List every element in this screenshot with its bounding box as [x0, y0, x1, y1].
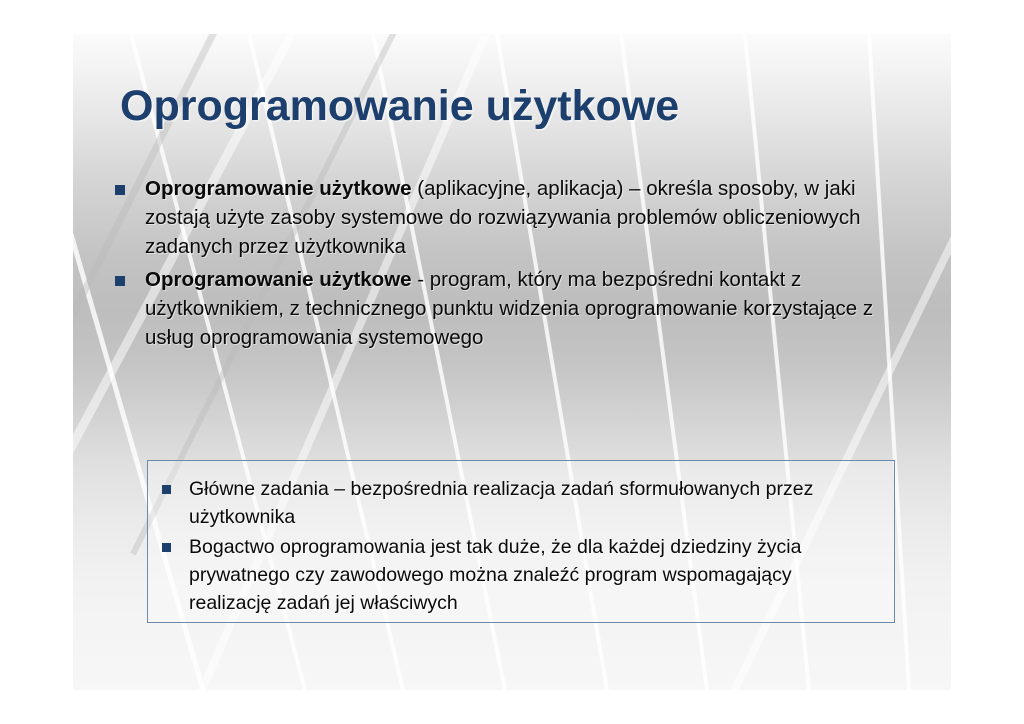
presentation-slide: Oprogramowanie użytkowe Oprogramowanie u… [73, 34, 951, 690]
box-bullet-text-2: Bogactwo oprogramowania jest tak duże, ż… [189, 533, 874, 617]
square-bullet-icon [162, 543, 171, 552]
body-bullet-item-1: Oprogramowanie użytkowe (aplikacyjne, ap… [115, 174, 925, 261]
box-bullet-item-2: Bogactwo oprogramowania jest tak duże, ż… [162, 533, 874, 617]
body-bullet-item-2: Oprogramowanie użytkowe - program, który… [115, 265, 925, 352]
square-bullet-icon [115, 276, 125, 286]
body-bullet-text-1: Oprogramowanie użytkowe (aplikacyjne, ap… [145, 174, 925, 261]
body-bullet-lead-1: Oprogramowanie użytkowe [145, 177, 412, 200]
square-bullet-icon [115, 185, 125, 195]
slide-title: Oprogramowanie użytkowe [120, 84, 920, 129]
body-bullet-list: Oprogramowanie użytkowe (aplikacyjne, ap… [115, 174, 925, 356]
box-bullet-text-1: Główne zadania – bezpośrednia realizacja… [189, 475, 874, 531]
box-bullet-item-1: Główne zadania – bezpośrednia realizacja… [162, 475, 874, 531]
body-bullet-lead-2: Oprogramowanie użytkowe [145, 268, 412, 291]
square-bullet-icon [162, 485, 171, 494]
highlight-box: Główne zadania – bezpośrednia realizacja… [147, 460, 895, 623]
body-bullet-text-2: Oprogramowanie użytkowe - program, który… [145, 265, 925, 352]
slide-canvas: Oprogramowanie użytkowe Oprogramowanie u… [0, 0, 1024, 724]
